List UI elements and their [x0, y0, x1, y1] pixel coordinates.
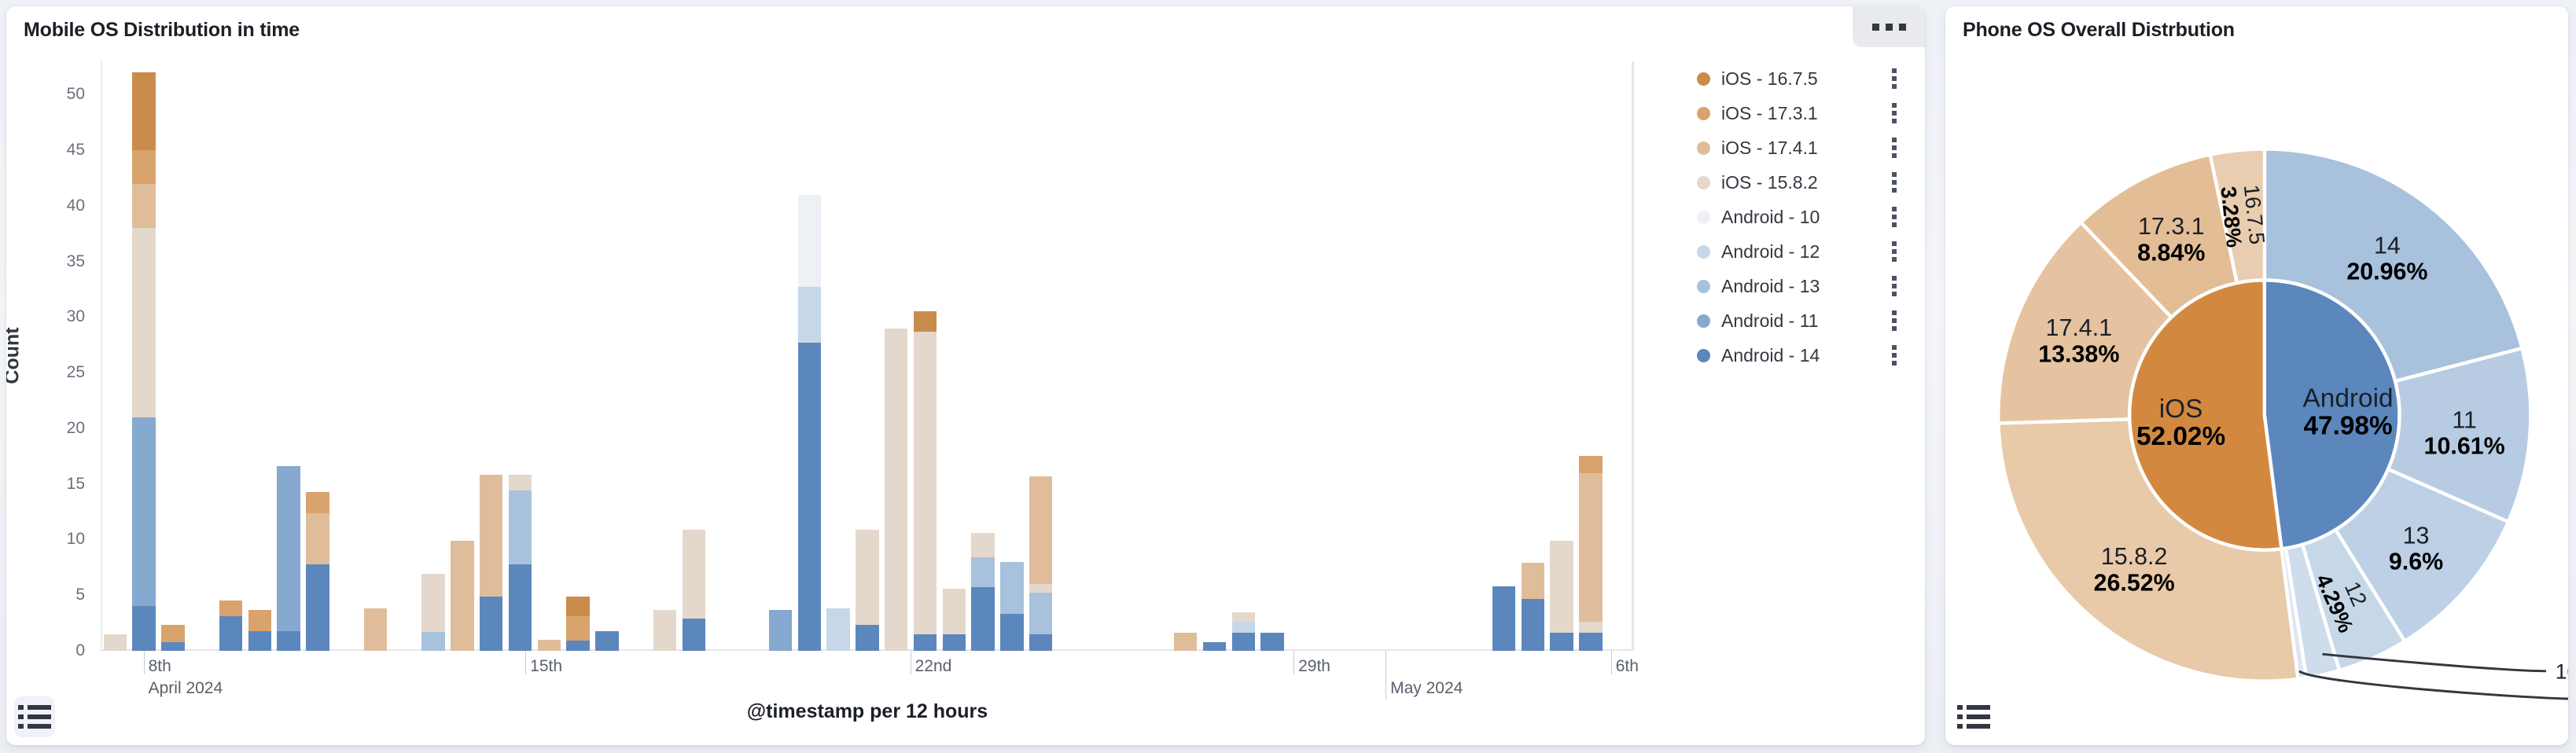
bar-segment	[566, 597, 589, 616]
bar-segment	[248, 610, 271, 631]
bar-stack[interactable]	[914, 311, 937, 651]
bar-segment	[1232, 622, 1255, 633]
legend-swatch	[1697, 141, 1710, 155]
bar-segment	[306, 513, 329, 564]
bar-segment	[219, 616, 242, 651]
bar-stack[interactable]	[1203, 642, 1226, 651]
bar-segment	[1232, 612, 1255, 623]
y-tick-label: 45	[38, 141, 85, 160]
chart-legend: iOS - 16.7.5iOS - 17.3.1iOS - 17.4.1iOS …	[1697, 61, 1909, 373]
bar-stack[interactable]	[1492, 586, 1515, 651]
legend-item[interactable]: iOS - 17.3.1	[1697, 96, 1909, 130]
bar-segment	[480, 597, 502, 651]
panel-phone-os-overall: Phone OS Overall Distrbution Android47.9…	[1945, 6, 2568, 745]
bar-stack[interactable]	[1232, 612, 1255, 651]
sunburst-slice-label: 17.3.1	[2138, 213, 2205, 240]
bar-segment	[914, 332, 937, 634]
legend-item-menu-icon[interactable]	[1892, 103, 1897, 123]
bar-segment	[219, 601, 242, 616]
sunburst-slice-value: 8.84%	[2137, 240, 2205, 266]
bar-segment	[480, 475, 502, 596]
bar-segment	[566, 616, 589, 641]
bar-segment	[683, 619, 705, 651]
bar-segment	[1029, 593, 1052, 634]
bar-segment	[769, 610, 792, 651]
y-tick-label: 25	[38, 363, 85, 382]
panel-mobile-os-distribution: Mobile OS Distribution in time Count 051…	[6, 6, 1925, 745]
bar-segment	[1203, 642, 1226, 651]
bar-segment	[1579, 633, 1602, 651]
bar-segment	[1522, 563, 1544, 598]
bar-segment	[595, 631, 618, 651]
bar-segment	[971, 587, 994, 651]
bar-segment	[826, 608, 849, 651]
bar-segment	[421, 574, 444, 632]
bar-segment	[277, 631, 300, 651]
legend-toggle-icon[interactable]	[1953, 696, 1994, 737]
bar-segment	[306, 492, 329, 513]
x-axis-title: @timestamp per 12 hours	[101, 700, 1634, 723]
bar-stack[interactable]	[538, 640, 561, 651]
bar-stack[interactable]	[595, 631, 618, 651]
y-tick-label: 40	[38, 197, 85, 215]
legend-swatch	[1697, 314, 1710, 328]
sunburst-slice-label: 13	[2403, 522, 2430, 549]
bar-segment	[1232, 633, 1255, 651]
bar-segment	[1000, 614, 1023, 651]
sunburst-slice-value: 47.98%	[2303, 412, 2392, 441]
bar-segment	[1029, 476, 1052, 584]
bar-segment	[1174, 633, 1197, 651]
legend-item-label: iOS - 15.8.2	[1721, 172, 1818, 193]
bar-segment	[566, 641, 589, 651]
legend-item-label: Android - 10	[1721, 207, 1820, 228]
bar-segment	[943, 589, 966, 634]
bar-stack[interactable]	[566, 597, 589, 651]
bar-stack[interactable]	[826, 608, 849, 651]
bar-segment	[421, 632, 444, 651]
bar-stack[interactable]	[480, 475, 502, 651]
y-axis-ticks: 05101520253035404550	[38, 6, 85, 745]
bar-stack[interactable]	[161, 625, 184, 651]
bar-stack[interactable]	[451, 541, 473, 651]
legend-item[interactable]: iOS - 16.7.5	[1697, 61, 1909, 96]
x-tick-label: 6th	[1611, 657, 1639, 676]
bar-stack[interactable]	[1029, 476, 1052, 651]
y-axis-title: Count	[6, 327, 24, 384]
legend-item[interactable]: Android - 11	[1697, 303, 1909, 338]
legend-item-menu-icon[interactable]	[1892, 310, 1897, 331]
y-tick-label: 0	[38, 641, 85, 660]
bar-segment	[1579, 456, 1602, 472]
legend-item[interactable]: Android - 13	[1697, 269, 1909, 303]
bar-segment	[248, 631, 271, 651]
bar-stack[interactable]	[885, 329, 907, 651]
bar-stack[interactable]	[798, 195, 821, 651]
bar-segment	[509, 564, 532, 651]
sunburst-slice-label-rotated: 16.7.53.28%	[2216, 183, 2269, 249]
bar-segment	[509, 475, 532, 490]
bar-segment	[856, 625, 878, 651]
bar-stack[interactable]	[248, 610, 271, 651]
bar-stack[interactable]	[219, 601, 242, 651]
y-tick-label: 50	[38, 85, 85, 104]
x-tick-label: 8thApril 2024	[144, 657, 223, 698]
bar-stack[interactable]	[971, 533, 994, 651]
bar-segment	[538, 640, 561, 651]
x-tick-label: 15th	[525, 657, 562, 676]
list-icon-glyph	[18, 705, 51, 729]
legend-item-menu-icon[interactable]	[1892, 276, 1897, 296]
bar-stack[interactable]	[277, 466, 300, 651]
legend-item[interactable]: Android - 12	[1697, 234, 1909, 269]
bar-stack[interactable]	[856, 530, 878, 651]
bar-stack[interactable]	[653, 610, 676, 651]
bar-segment	[1522, 599, 1544, 652]
y-tick-label: 35	[38, 252, 85, 271]
legend-swatch	[1697, 349, 1710, 362]
x-tick-label: 22nd	[911, 657, 952, 676]
bar-stack[interactable]	[1174, 633, 1197, 651]
plot-area	[101, 61, 1634, 651]
plot-right-edge	[1632, 61, 1634, 651]
bar-stack[interactable]	[1550, 541, 1573, 651]
bar-stack[interactable]	[683, 530, 705, 651]
bar-stack[interactable]	[421, 574, 444, 651]
bar-stack[interactable]	[1579, 456, 1602, 651]
bar-stack[interactable]	[509, 475, 532, 651]
legend-item-menu-icon[interactable]	[1892, 241, 1897, 262]
legend-item[interactable]: Android - 10	[1697, 200, 1909, 234]
bar-stack[interactable]	[364, 608, 387, 651]
sunburst-slice-value: 26.52%	[2094, 569, 2175, 596]
bar-segment	[798, 343, 821, 651]
bar-segment	[161, 625, 184, 641]
bar-segment	[971, 557, 994, 587]
y-tick-label: 20	[38, 419, 85, 438]
legend-item-menu-icon[interactable]	[1892, 345, 1897, 365]
legend-item-label: iOS - 16.7.5	[1721, 68, 1818, 90]
bar-segment	[132, 417, 155, 607]
dashboard-root: Mobile OS Distribution in time Count 051…	[0, 0, 2576, 753]
bar-segment	[914, 634, 937, 651]
sunburst-slice-label: iOS	[2159, 395, 2203, 424]
x-tick-label: 29th	[1294, 657, 1330, 676]
legend-item-label: iOS - 17.4.1	[1721, 138, 1818, 159]
bar-segment	[1029, 634, 1052, 651]
legend-swatch	[1697, 176, 1710, 189]
bar-segment	[1550, 633, 1573, 651]
bar-segment	[509, 490, 532, 564]
bar-stack[interactable]	[1522, 563, 1544, 651]
list-icon-glyph	[1957, 705, 1990, 729]
bar-segment	[798, 195, 821, 287]
bar-segment	[277, 466, 300, 630]
y-tick-label: 10	[38, 530, 85, 549]
bar-stack[interactable]	[943, 589, 966, 651]
sunburst-slice-label: 15.8.2	[2101, 543, 2168, 570]
y-tick-label: 15	[38, 475, 85, 494]
bar-segment	[683, 530, 705, 619]
legend-item-label: Android - 13	[1721, 276, 1820, 297]
legend-swatch	[1697, 107, 1710, 120]
bar-segment	[653, 610, 676, 651]
bar-segment	[1260, 633, 1283, 651]
legend-item[interactable]: iOS - 17.4.1	[1697, 130, 1909, 165]
bar-segment	[132, 72, 155, 150]
legend-item-menu-icon[interactable]	[1892, 207, 1897, 227]
sunburst-slice-label: 11	[2452, 406, 2477, 433]
sunburst-slice-value: 13.38%	[2038, 341, 2119, 368]
legend-item-label: iOS - 17.3.1	[1721, 103, 1818, 124]
bar-stack[interactable]	[1260, 633, 1283, 651]
plot-left-edge	[101, 61, 102, 651]
sunburst-slice-value: 20.96%	[2346, 259, 2427, 285]
legend-item-menu-icon[interactable]	[1892, 68, 1897, 89]
bar-stack[interactable]	[306, 492, 329, 651]
legend-item[interactable]: Android - 14	[1697, 338, 1909, 373]
bar-segment	[306, 564, 329, 651]
legend-item-menu-icon[interactable]	[1892, 138, 1897, 158]
bar-segment	[1000, 562, 1023, 615]
bar-segment	[914, 311, 937, 331]
legend-toggle-icon[interactable]	[14, 696, 55, 737]
legend-swatch	[1697, 211, 1710, 224]
sunburst-slice-value: 10.61%	[2424, 433, 2505, 460]
bar-stack[interactable]	[132, 72, 155, 651]
y-tick-label: 5	[38, 586, 85, 604]
bar-stack[interactable]	[769, 610, 792, 651]
bar-segment	[885, 329, 907, 651]
sunburst-slice-label: 17.4.1	[2046, 314, 2113, 341]
sunburst-slice-value: 52.02%	[2136, 422, 2225, 451]
legend-swatch	[1697, 280, 1710, 293]
bar-segment	[1579, 473, 1602, 623]
legend-item-label: Android - 12	[1721, 241, 1820, 263]
callout-leader-line	[2299, 671, 2568, 699]
sunburst-slice-label: 14	[2374, 232, 2401, 259]
legend-swatch	[1697, 72, 1710, 86]
bar-segment	[132, 606, 155, 651]
bar-segment	[132, 184, 155, 229]
bar-segment	[798, 287, 821, 343]
bar-segment	[161, 642, 184, 651]
y-tick-label: 30	[38, 307, 85, 326]
bar-segment	[856, 530, 878, 626]
legend-item[interactable]: iOS - 15.8.2	[1697, 165, 1909, 200]
bar-segment	[132, 228, 155, 417]
sunburst-chart[interactable]: Android47.98%iOS52.02%1420.96%1110.61%13…	[1945, 6, 2568, 745]
bar-segment	[104, 634, 127, 651]
legend-swatch	[1697, 245, 1710, 259]
x-tick-label: May 2024	[1386, 679, 1463, 698]
bar-stack[interactable]	[104, 634, 127, 651]
bar-segment	[364, 608, 387, 651]
bar-segment	[943, 634, 966, 651]
callout-label: 10 2.02%	[2556, 660, 2568, 684]
bar-segment	[971, 533, 994, 557]
bar-segment	[1550, 541, 1573, 633]
bar-chart: Count 05101520253035404550 8thApril 2024…	[6, 6, 1925, 745]
bar-segment	[451, 541, 473, 651]
bar-stack[interactable]	[1000, 562, 1023, 651]
bar-segment	[1029, 584, 1052, 593]
legend-item-menu-icon[interactable]	[1892, 172, 1897, 193]
bar-segment	[132, 150, 155, 183]
sunburst-slice-value: 9.6%	[2389, 549, 2443, 575]
legend-item-label: Android - 11	[1721, 310, 1819, 332]
bar-segment	[1579, 622, 1602, 633]
sunburst-slice-label: Android	[2303, 384, 2394, 413]
legend-item-label: Android - 14	[1721, 345, 1820, 366]
bar-segment	[1492, 586, 1515, 651]
